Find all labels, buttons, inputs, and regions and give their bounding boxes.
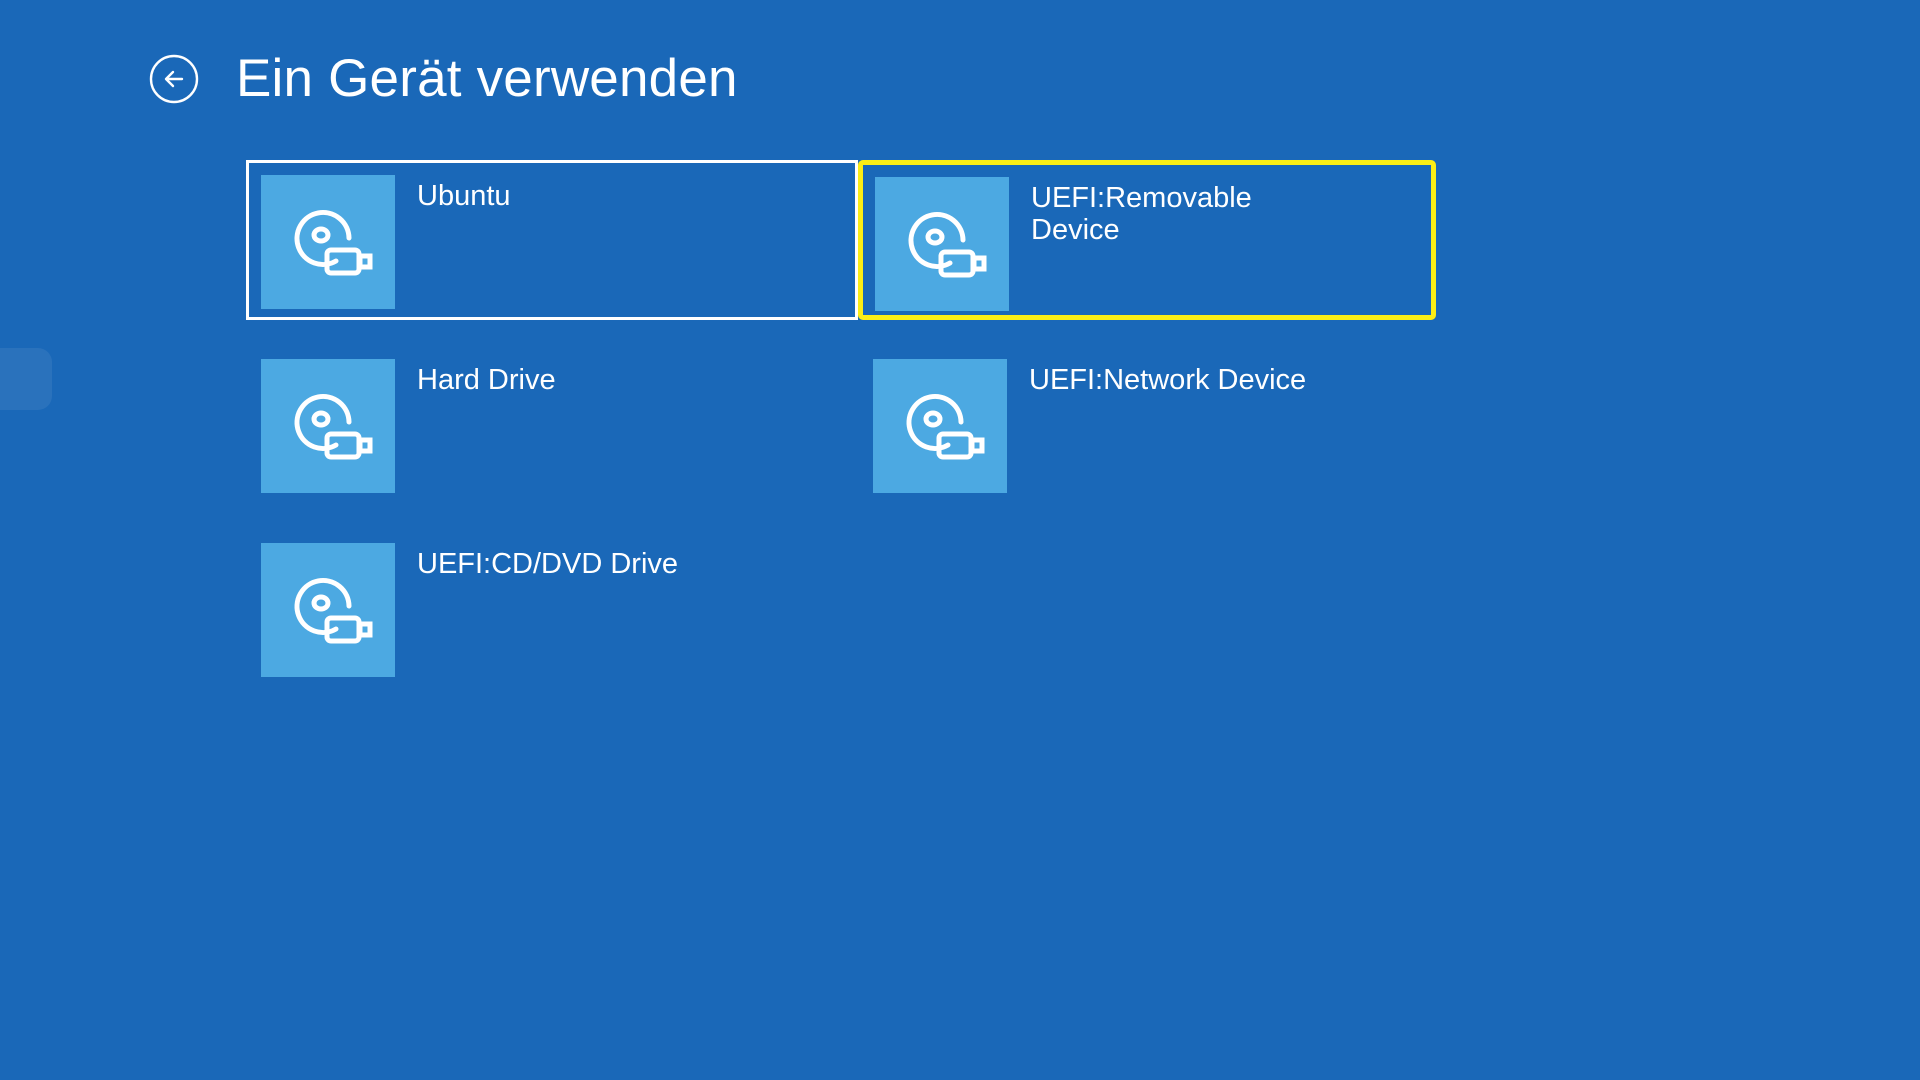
page-header: Ein Gerät verwenden	[148, 52, 738, 105]
device-item[interactable]: UEFI:Network Device	[858, 344, 1436, 504]
disc-usb-device-icon	[873, 359, 1007, 493]
device-item[interactable]: Ubuntu	[246, 160, 858, 320]
device-item-label: Hard Drive	[395, 359, 556, 396]
device-item-label: Ubuntu	[395, 175, 511, 212]
device-item[interactable]: UEFI:Removable Device	[858, 160, 1436, 320]
device-list: UbuntuUEFI:Removable DeviceHard DriveUEF…	[246, 160, 1436, 688]
device-item[interactable]: UEFI:CD/DVD Drive	[246, 528, 858, 688]
device-item[interactable]: Hard Drive	[246, 344, 858, 504]
disc-usb-device-icon	[875, 177, 1009, 311]
page-title: Ein Gerät verwenden	[236, 52, 738, 105]
device-item-label: UEFI:CD/DVD Drive	[395, 543, 678, 580]
device-item-label: UEFI:Removable Device	[1009, 177, 1339, 247]
device-item-label: UEFI:Network Device	[1007, 359, 1306, 396]
disc-usb-device-icon	[261, 175, 395, 309]
disc-usb-device-icon	[261, 543, 395, 677]
edge-artifact-shape	[0, 348, 52, 410]
disc-usb-device-icon	[261, 359, 395, 493]
back-arrow-circle-icon[interactable]	[148, 53, 200, 105]
